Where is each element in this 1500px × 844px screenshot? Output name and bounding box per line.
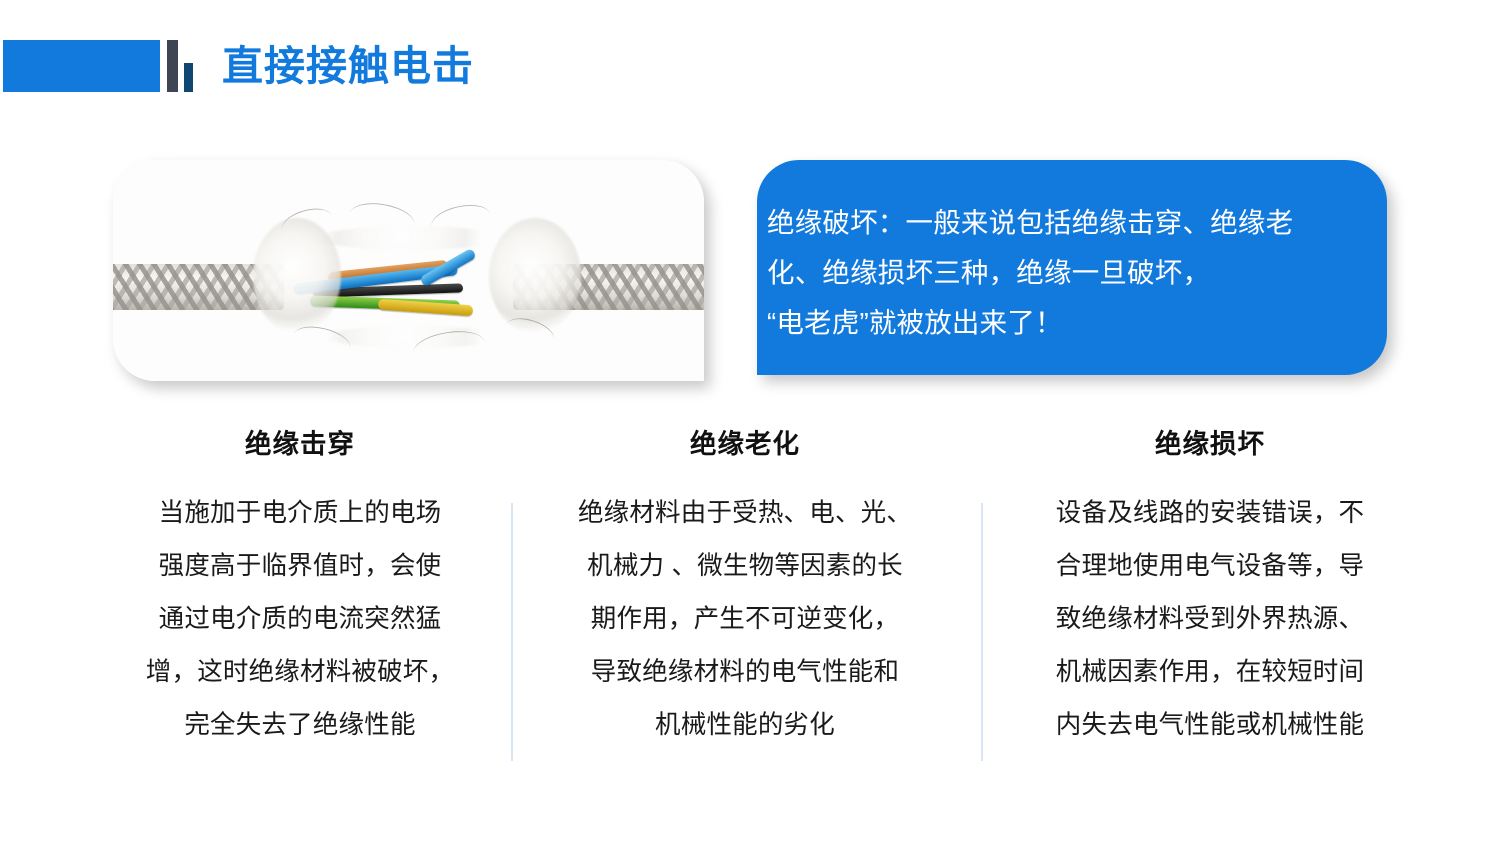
column-body: 绝缘材料由于受热、电、光、 机械力 、微生物等因素的长 期作用，产生不可逆变化，… — [530, 487, 960, 752]
slide-root: 直接接触电击 — [0, 0, 1500, 844]
column-insulation-damage: 绝缘损坏 设备及线路的安装错误，不 合理地使用电气设备等，导 致绝缘材料受到外界… — [1005, 425, 1415, 752]
column-body: 当施加于电介质上的电场 强度高于临界值时，会使 通过电介质的电流突然猛 增，这时… — [110, 487, 490, 752]
column-body: 设备及线路的安装错误，不 合理地使用电气设备等，导 致绝缘材料受到外界热源、 机… — [1005, 487, 1415, 752]
column-heading: 绝缘老化 — [530, 425, 960, 463]
column-heading: 绝缘击穿 — [110, 425, 490, 463]
header-accent-block — [3, 40, 160, 92]
column-heading: 绝缘损坏 — [1005, 425, 1415, 463]
header-navy-bar-icon — [184, 63, 193, 92]
page-title: 直接接触电击 — [222, 39, 474, 93]
explanation-columns: 绝缘击穿 当施加于电介质上的电场 强度高于临界值时，会使 通过电介质的电流突然猛… — [0, 425, 1500, 805]
stray-fiber-4 — [291, 321, 354, 361]
column-insulation-breakdown: 绝缘击穿 当施加于电介质上的电场 强度高于临界值时，会使 通过电介质的电流突然猛… — [110, 425, 490, 752]
damaged-cable-photo — [113, 160, 704, 381]
header-dark-bar-icon — [167, 40, 178, 92]
column-divider-2 — [981, 503, 983, 761]
slide-header: 直接接触电击 — [0, 0, 1500, 130]
column-insulation-aging: 绝缘老化 绝缘材料由于受热、电、光、 机械力 、微生物等因素的长 期作用，产生不… — [530, 425, 960, 752]
callout-text: 绝缘破坏：一般来说包括绝缘击穿、绝缘老 化、绝缘损坏三种，绝缘一旦破坏， “电老… — [767, 198, 1359, 348]
insulation-failure-callout: 绝缘破坏：一般来说包括绝缘击穿、绝缘老 化、绝缘损坏三种，绝缘一旦破坏， “电老… — [757, 160, 1387, 375]
column-divider-1 — [511, 503, 513, 761]
damaged-cable-photo-card — [113, 160, 704, 381]
frayed-sheath-right — [489, 218, 581, 334]
wire-yellow-icon — [378, 299, 474, 317]
